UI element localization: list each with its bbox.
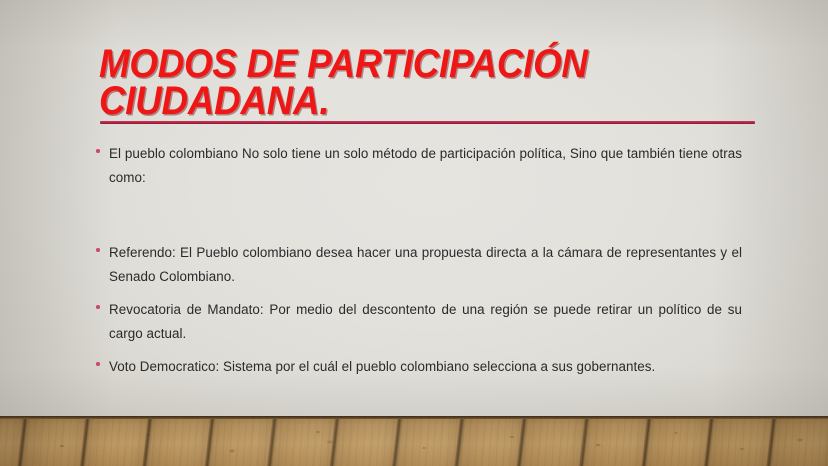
slide-body: El pueblo colombiano No solo tiene un so… xyxy=(96,142,742,388)
bullet-dot-icon xyxy=(96,298,109,309)
floor-shading xyxy=(0,418,828,466)
list-item: Referendo: El Pueblo colombiano desea ha… xyxy=(96,241,742,289)
bullet-text: Referendo: El Pueblo colombiano desea ha… xyxy=(109,241,742,289)
bullet-text: Voto Democratico: Sistema por el cuál el… xyxy=(109,355,742,379)
bullet-dot-icon xyxy=(96,355,109,366)
bullet-text: Revocatoria de Mandato: Por medio del de… xyxy=(109,298,742,346)
list-item: El pueblo colombiano No solo tiene un so… xyxy=(96,142,742,190)
page-title: MODOS DE PARTICIPACIÓN CIUDADANA. xyxy=(99,46,725,120)
bullet-spacer xyxy=(96,199,742,241)
floor-edge xyxy=(0,416,828,419)
wooden-floor-decoration xyxy=(0,416,828,466)
slide-canvas: MODOS DE PARTICIPACIÓN CIUDADANA. El pue… xyxy=(0,0,828,466)
bullet-text: El pueblo colombiano No solo tiene un so… xyxy=(109,142,742,190)
bullet-dot-icon xyxy=(96,241,109,252)
list-item: Voto Democratico: Sistema por el cuál el… xyxy=(96,355,742,379)
list-item: Revocatoria de Mandato: Por medio del de… xyxy=(96,298,742,346)
slide-title-block: MODOS DE PARTICIPACIÓN CIUDADANA. xyxy=(99,46,779,120)
bullet-dot-icon xyxy=(96,142,109,153)
title-underline-rule xyxy=(100,121,755,124)
